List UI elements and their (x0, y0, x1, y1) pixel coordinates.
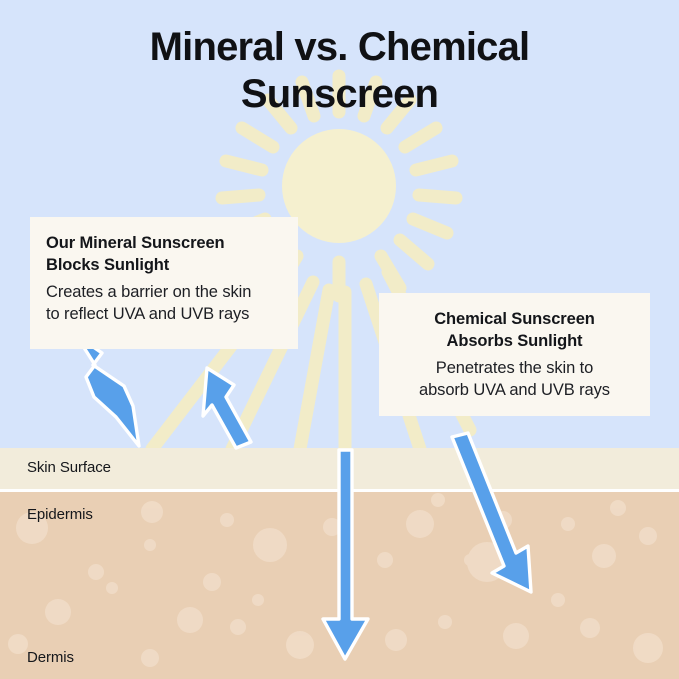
sun-ray (222, 195, 259, 198)
skin-bubble (639, 527, 657, 545)
skin-bubble (610, 500, 626, 516)
callout-mineral-heading: Our Mineral Sunscreen Blocks Sunlight (46, 233, 284, 277)
skin-bubble (286, 631, 314, 659)
skin-bubble (8, 634, 28, 654)
callout-mineral-body: Creates a barrier on the skin to reflect… (46, 281, 284, 326)
skin-bubble (633, 633, 663, 663)
skin-bubble (88, 564, 104, 580)
skin-bubble (431, 493, 445, 507)
skin-bubble (561, 517, 575, 531)
skin-bubble (230, 619, 246, 635)
sun-ray (416, 161, 452, 170)
callout-chemical-body: Penetrates the skin to absorb UVA and UV… (393, 357, 636, 402)
callout-mineral-sunscreen: Our Mineral Sunscreen Blocks Sunlight Cr… (30, 217, 298, 349)
skin-bubble (503, 623, 529, 649)
skin-bubble (177, 607, 203, 633)
skin-bubble (203, 573, 221, 591)
skin-bubble (106, 582, 118, 594)
skin-bubble (580, 618, 600, 638)
skin-bubble (253, 528, 287, 562)
skin-bubble (385, 629, 407, 651)
skin-bubble (406, 510, 434, 538)
skin-bubble (144, 539, 156, 551)
skin-layer-label-skin-surface: Skin Surface (27, 459, 111, 476)
skin-bubble (141, 501, 163, 523)
skin-bubble (377, 552, 393, 568)
skin-bubble (551, 593, 565, 607)
skin-layer-label-dermis: Dermis (27, 649, 74, 666)
sun-disc (282, 129, 396, 243)
skin-bubble (45, 599, 71, 625)
callout-chemical-sunscreen: Chemical Sunscreen Absorbs Sunlight Pene… (379, 293, 650, 416)
skin-layer-label-epidermis: Epidermis (27, 506, 93, 523)
skin-bubble (464, 554, 476, 566)
sun-ray (226, 161, 262, 170)
sunscreen-infographic: Mineral vs. Chemical Sunscreen Our Miner… (0, 0, 679, 679)
skin-bubble (141, 649, 159, 667)
skin-bubble (438, 615, 452, 629)
skin-bubble (592, 544, 616, 568)
sun-ray (419, 195, 456, 198)
skin-bubble (220, 513, 234, 527)
skin-bubble (252, 594, 264, 606)
callout-chemical-heading: Chemical Sunscreen Absorbs Sunlight (393, 309, 636, 353)
